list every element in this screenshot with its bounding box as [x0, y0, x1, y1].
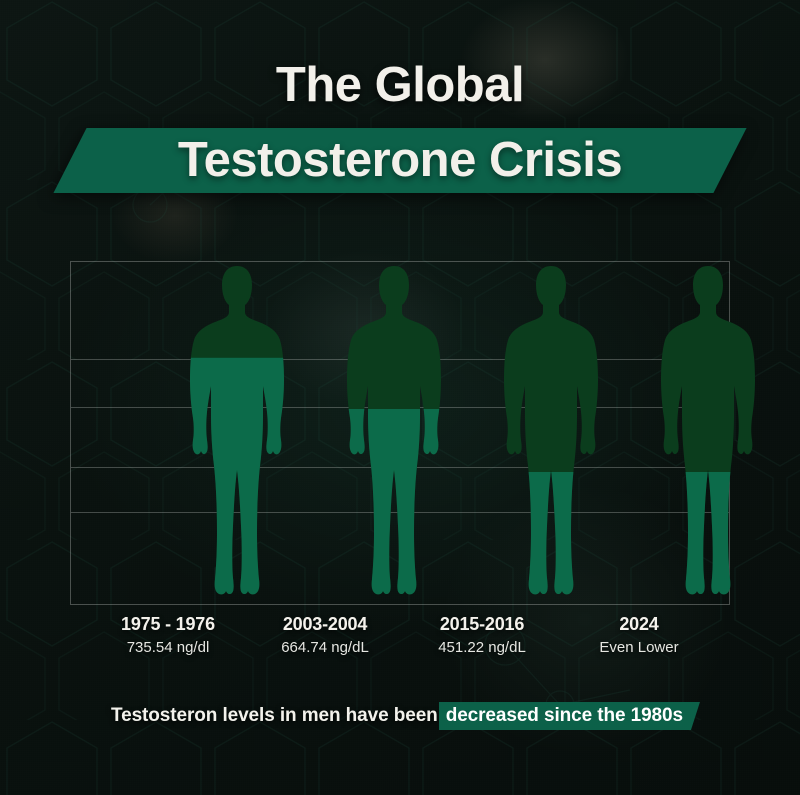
footer-highlight-wrap: decreased since the 1980s	[444, 702, 689, 730]
label-value-3: 451.22 ng/dL	[392, 639, 572, 656]
label-period-1: 1975 - 1976	[78, 614, 258, 635]
page-title-line2: Testosterone Crisis	[0, 130, 800, 190]
label-period-4: 2024	[549, 614, 729, 635]
label-column-4: 2024 Even Lower	[549, 614, 729, 656]
footer-text-plain: Testosteron levels in men have been	[111, 705, 438, 727]
label-column-3: 2015-2016 451.22 ng/dL	[392, 614, 572, 656]
label-column-2: 2003-2004 664.74 ng/dL	[235, 614, 415, 656]
figure-2003-2004	[338, 264, 450, 605]
footer-caption: Testosteron levels in men have beendecre…	[0, 702, 800, 730]
axis-label-group: 1975 - 1976 735.54 ng/dl 2003-2004 664.7…	[70, 614, 730, 674]
footer-text-highlight: decreased since the 1980s	[444, 702, 689, 730]
figure-group	[71, 262, 729, 604]
infographic-root: The Global Testosterone Crisis	[0, 0, 800, 795]
label-value-1: 735.54 ng/dl	[78, 639, 258, 656]
figure-2024	[652, 264, 764, 605]
label-value-2: 664.74 ng/dL	[235, 639, 415, 656]
page-title-line1: The Global	[0, 57, 800, 113]
chart-frame	[70, 261, 730, 605]
label-value-4: Even Lower	[549, 639, 729, 656]
figure-1975-1976	[181, 264, 293, 605]
label-period-2: 2003-2004	[235, 614, 415, 635]
label-period-3: 2015-2016	[392, 614, 572, 635]
figure-2015-2016	[495, 264, 607, 605]
label-column-1: 1975 - 1976 735.54 ng/dl	[78, 614, 258, 656]
